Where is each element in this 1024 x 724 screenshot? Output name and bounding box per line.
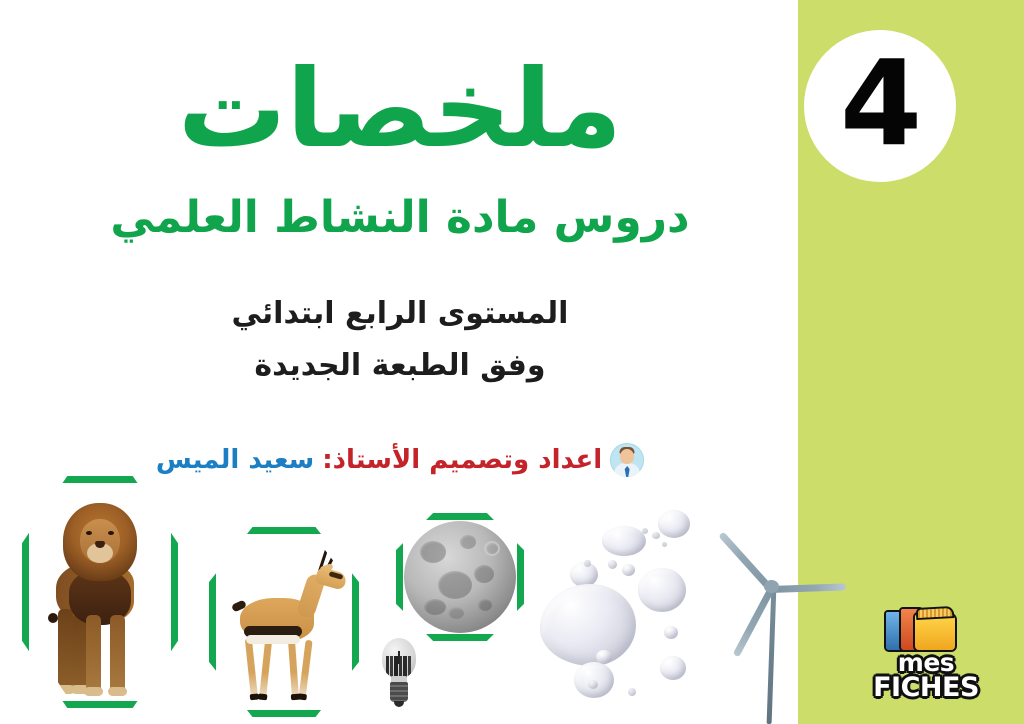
- water-bubble: [622, 564, 635, 576]
- moon-frame-inner: [403, 520, 517, 634]
- moon-crater: [448, 607, 464, 619]
- moon-crater: [460, 535, 476, 549]
- water-bubble: [628, 688, 636, 696]
- water-bubble: [602, 526, 646, 556]
- lion-eye-left: [86, 531, 92, 535]
- lion-frame-inner: [29, 483, 171, 701]
- lion-leg-back-left: [58, 609, 73, 691]
- poster-canvas: 4 ملخصات دروس مادة النشاط العلمي المستوى…: [0, 0, 1024, 724]
- gazelle-frame-inner: [216, 534, 352, 710]
- person-avatar-icon: [610, 443, 644, 477]
- lion-tail: [48, 613, 58, 623]
- page-title: ملخصات: [0, 48, 800, 172]
- moon-crater: [474, 565, 494, 583]
- gazelle-belly: [246, 635, 300, 644]
- water-bubble: [652, 532, 660, 539]
- bulb-contact-tip: [394, 701, 404, 707]
- folders-icon: [884, 606, 958, 652]
- bulb-skyline-spire: [398, 651, 400, 664]
- water-droplets-icon: [534, 498, 744, 724]
- lion-frame: [22, 476, 178, 708]
- moon-icon: [404, 521, 516, 633]
- water-bubble: [664, 626, 678, 639]
- water-bubble: [584, 560, 591, 567]
- logo-line-2: FICHES: [872, 672, 980, 703]
- gazelle-leg-4: [298, 640, 312, 700]
- author-name: سعيد الميس: [156, 445, 314, 475]
- author-label: اعداد وتصميم الأستاذ:: [322, 445, 602, 475]
- water-bubble: [638, 568, 686, 612]
- turbine-blade: [770, 583, 846, 593]
- water-bubble-large: [540, 584, 636, 666]
- water-bubble: [660, 656, 686, 680]
- gazelle-frame: [209, 527, 359, 717]
- avatar-head: [620, 449, 634, 464]
- mes-fiches-logo: mes FICHES: [872, 606, 980, 710]
- water-bubble: [642, 528, 648, 534]
- badge-number-text: 4: [840, 44, 920, 162]
- lion-leg-front-right: [110, 615, 125, 693]
- water-bubble: [608, 560, 617, 569]
- water-bubble: [596, 650, 612, 664]
- lion-leg-front-left: [86, 615, 101, 693]
- gazelle-leg-2: [259, 640, 272, 700]
- lightbulb-icon: [376, 638, 422, 716]
- page-subtitle: دروس مادة النشاط العلمي: [0, 190, 800, 245]
- water-bubble: [662, 542, 667, 547]
- level-text: المستوى الرابع ابتدائي: [0, 296, 800, 332]
- bulb-screw-base: [390, 682, 408, 702]
- water-bubble: [588, 680, 598, 689]
- moon-crater: [438, 571, 472, 599]
- moon-frame: [396, 513, 524, 641]
- gazelle-leg-1: [245, 638, 258, 700]
- bulb-glass: [382, 638, 416, 678]
- moon-crater: [424, 599, 446, 615]
- edition-text: وفق الطبعة الجديدة: [0, 348, 800, 384]
- moon-crater: [420, 541, 446, 563]
- moon-crater: [478, 599, 492, 611]
- lion-icon: [42, 497, 158, 697]
- water-bubble: [658, 510, 690, 538]
- author-credit: اعداد وتصميم الأستاذ: سعيد الميس: [0, 443, 800, 477]
- wind-turbine-icon: [726, 552, 856, 724]
- moon-crater: [484, 541, 500, 556]
- gazelle-leg-3: [288, 638, 299, 700]
- turbine-hub: [764, 580, 779, 593]
- folder-yellow: [915, 614, 955, 650]
- lion-eye-right: [108, 531, 114, 535]
- turbine-mast: [767, 586, 777, 724]
- level-number-badge: 4: [804, 30, 956, 182]
- gazelle-icon: [232, 552, 352, 708]
